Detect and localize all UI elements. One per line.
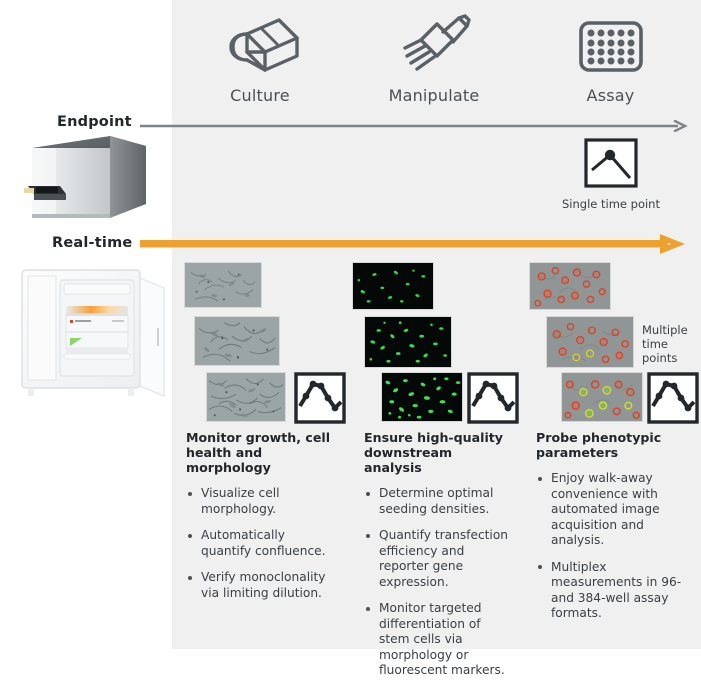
endpoint-arrow-icon [140, 120, 692, 132]
text-block-culture-list: Visualize cell morphology. Automatically… [186, 486, 336, 601]
list-item: Verify monoclonality via limiting diluti… [186, 570, 336, 601]
text-block-culture-heading: Monitor growth, cell health and morpholo… [186, 430, 336, 475]
assay-thumbnail-3 [561, 372, 643, 422]
single-time-point-marker: Single time point [556, 138, 666, 211]
column-header-culture: Culture [172, 8, 348, 105]
assay-wave-plot-icon [647, 372, 699, 424]
multiple-time-points-caption: Multiple time points [642, 323, 700, 365]
infographic-canvas: Culture Manipulate [0, 0, 701, 649]
endpoint-row-label: Endpoint [57, 114, 132, 130]
text-block-manipulate-heading: Ensure high-quality downstream analysis [364, 430, 510, 475]
culture-thumbnail-1 [184, 262, 262, 308]
text-block-manipulate: Ensure high-quality downstream analysis … [364, 430, 510, 690]
manipulate-thumbnail-3 [381, 372, 463, 422]
list-item: Automatically quantify confluence. [186, 528, 336, 559]
live-cell-imager-in-incubator-photo [8, 258, 173, 408]
text-block-culture: Monitor growth, cell health and morpholo… [186, 430, 336, 612]
column-header-assay: Assay [520, 8, 701, 105]
text-block-assay-heading: Probe phenotypic parameters [536, 430, 688, 460]
list-item: Visualize cell morphology. [186, 486, 336, 517]
list-item: Quantify transfection efficiency and rep… [364, 528, 510, 590]
list-item: Multiplex measurements in 96- and 384-we… [536, 560, 688, 622]
column-header-manipulate: Manipulate [348, 8, 520, 105]
text-block-manipulate-list: Determine optimal seeding densities. Qua… [364, 486, 510, 679]
culture-wave-plot-icon [294, 372, 346, 424]
realtime-row-label: Real-time [52, 235, 132, 251]
manipulate-thumbnail-1 [352, 262, 434, 310]
list-item: Monitor targeted differentiation of stem… [364, 601, 510, 679]
realtime-arrow-icon [140, 234, 692, 254]
single-point-plot-icon [584, 138, 638, 188]
multi-tp-line-3: points [642, 351, 700, 365]
manipulate-wave-plot-icon [467, 372, 519, 424]
single-time-point-caption: Single time point [556, 197, 666, 211]
column-label-culture: Culture [172, 86, 348, 105]
multichannel-pipette-icon [348, 8, 520, 86]
assay-thumbnail-2 [546, 316, 634, 368]
culture-thumbnail-2 [194, 316, 280, 366]
text-block-assay: Probe phenotypic parameters Enjoy walk-a… [536, 430, 688, 633]
assay-thumbnail-1 [529, 262, 611, 310]
multi-tp-line-2: time [642, 337, 700, 351]
column-label-assay: Assay [520, 86, 701, 105]
multi-tp-line-1: Multiple [642, 323, 700, 337]
flask-culture-icon [172, 8, 348, 86]
plate-reader-photo [14, 132, 154, 228]
list-item: Enjoy walk-away convenience with automat… [536, 471, 688, 549]
manipulate-thumbnail-2 [364, 316, 452, 368]
list-item: Determine optimal seeding densities. [364, 486, 510, 517]
microplate-icon [520, 8, 701, 86]
culture-thumbnail-3 [206, 372, 286, 422]
text-block-assay-list: Enjoy walk-away convenience with automat… [536, 471, 688, 622]
column-label-manipulate: Manipulate [348, 86, 520, 105]
